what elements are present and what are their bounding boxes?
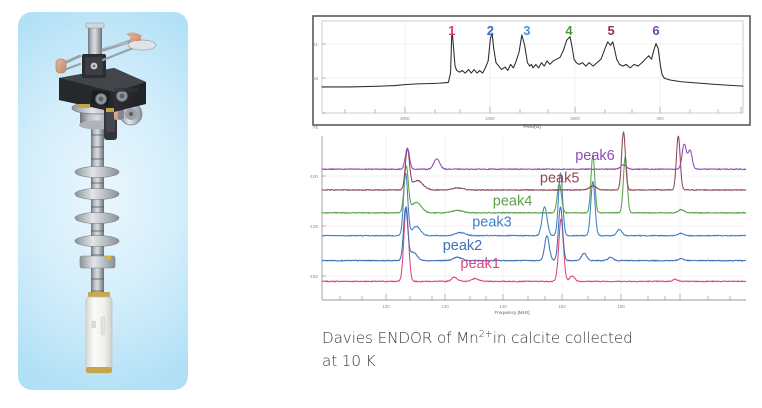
endor-ytick-1: -125 xyxy=(309,224,319,229)
endor-trace-peak1 xyxy=(322,207,746,282)
endor-label-peak2: peak2 xyxy=(443,238,483,254)
endor-xtick-0: 120 xyxy=(382,304,390,309)
endor-trace-peak5 xyxy=(322,132,746,191)
endor-gridlines xyxy=(322,136,746,300)
endor-label-peak6: peak6 xyxy=(575,148,615,164)
endor-trace-peak6 xyxy=(322,144,746,169)
endor-label-peak5: peak5 xyxy=(540,171,580,187)
epr-peak-label-6: 6 xyxy=(652,23,659,38)
epr-peak-label-4: 4 xyxy=(565,23,573,38)
epr-xaxis-label: Field[G] xyxy=(523,124,541,130)
caption-charge-superscript: 2+ xyxy=(479,329,493,340)
endor-x-ticks xyxy=(340,294,730,300)
epr-panel: -31 -58 -75 3000 3400 3800 400 Field[G] … xyxy=(311,16,750,130)
endor-panel: -100 -125 -150 120 130 140 150 160 Frequ… xyxy=(309,132,746,315)
endor-label-peak3: peak3 xyxy=(472,214,512,230)
epr-xtick-2: 3800 xyxy=(570,116,580,121)
epr-xtick-0: 3000 xyxy=(400,116,410,121)
endor-label-peak1: peak1 xyxy=(460,256,500,272)
endor-xtick-2: 140 xyxy=(499,304,507,309)
epr-ytick-2: -75 xyxy=(311,125,318,130)
sample-chamber xyxy=(86,292,112,373)
epr-xtick-1: 3400 xyxy=(485,116,495,121)
epr-ytick-0: -31 xyxy=(311,42,318,47)
figure-caption: Davies ENDOR of Mn2+in calcite collected… xyxy=(322,327,752,373)
caption-line1-post: in calcite collected xyxy=(493,329,633,347)
caption-line2: at 10 K xyxy=(322,352,376,370)
endor-ytick-2: -150 xyxy=(309,274,319,279)
endor-trace-labels: peak1peak2peak3peak4peak5peak6 xyxy=(443,148,615,272)
epr-peak-label-1: 1 xyxy=(448,23,455,38)
slide-root: -31 -58 -75 3000 3400 3800 400 Field[G] … xyxy=(0,0,762,408)
figure-canvas: -31 -58 -75 3000 3400 3800 400 Field[G] … xyxy=(300,8,752,318)
epr-ytick-1: -58 xyxy=(311,76,318,81)
product-image-card xyxy=(18,12,188,390)
endor-traces xyxy=(322,132,746,282)
epr-peak-label-3: 3 xyxy=(523,23,530,38)
spectra-figure: -31 -58 -75 3000 3400 3800 400 Field[G] … xyxy=(300,8,752,318)
endor-xtick-4: 160 xyxy=(617,304,625,309)
endor-xaxis-label: Frequency [MHz] xyxy=(495,310,530,315)
epr-xtick-3: 400 xyxy=(656,116,664,121)
epr-peak-label-2: 2 xyxy=(487,23,494,38)
endor-xtick-1: 130 xyxy=(441,304,449,309)
endor-xtick-3: 150 xyxy=(558,304,566,309)
endor-ytick-0: -100 xyxy=(309,174,319,179)
epr-peak-label-5: 5 xyxy=(607,23,614,38)
endor-label-peak4: peak4 xyxy=(493,194,533,210)
cryostat-probe-illustration xyxy=(18,12,188,390)
caption-line1-pre: Davies ENDOR of Mn xyxy=(322,329,479,347)
